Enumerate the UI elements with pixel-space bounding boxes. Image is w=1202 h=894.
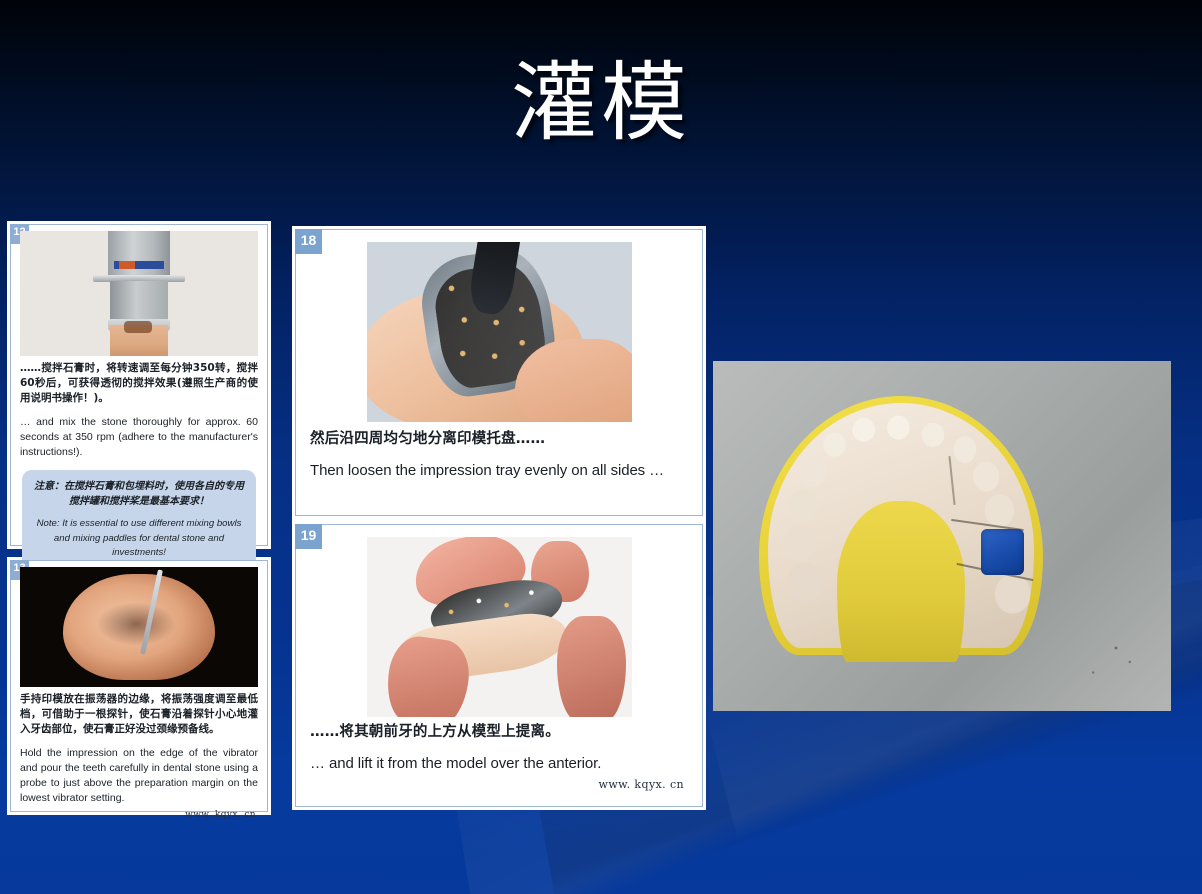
- card-12-caption-zh: ……搅拌石膏时，将转速调至每分钟350转，搅拌60秒后，可获得透彻的搅拌效果(遵…: [20, 361, 258, 406]
- maxillary-stone-model-photo: [713, 361, 1171, 711]
- card-18-photo: [367, 242, 632, 422]
- left-card-column: 12 ……搅拌石膏时，将转速调至每分钟350转，搅拌60秒后，可获得透彻的搅拌效…: [7, 221, 271, 815]
- card-18-caption-en: Then loosen the impression tray evenly o…: [310, 461, 690, 481]
- slide-title: 灌模: [0, 58, 1202, 148]
- card-13: 13 手持印模放在振荡器的边缘，将振荡强度调至最低档，可借助于一根探针，使石膏沿…: [10, 560, 268, 812]
- card-13-caption-en: Hold the impression on the edge of the v…: [20, 746, 258, 807]
- card-19-photo: [367, 537, 632, 717]
- mixer-head-icon: [108, 231, 170, 277]
- card-13-photo: [20, 567, 258, 687]
- card-18-body: 然后沿四周均匀地分离印模托盘…… Then loosen the impress…: [296, 230, 702, 515]
- impression-icon: [63, 574, 215, 680]
- card-19-caption-zh: ……将其朝前牙的上方从模型上提离。: [310, 723, 690, 743]
- middle-column-gap: [295, 516, 703, 524]
- mixing-bowl-icon: [110, 325, 168, 356]
- card-13-caption-zh: 手持印模放在振荡器的边缘，将振荡强度调至最低档，可借助于一根探针，使石膏沿着探针…: [20, 692, 258, 738]
- card-12: 12 ……搅拌石膏时，将转速调至每分钟350转，搅拌60秒后，可获得透彻的搅拌效…: [10, 224, 268, 546]
- card-19-caption-en: … and lift it from the model over the an…: [310, 754, 690, 774]
- card-19-body: ……将其朝前牙的上方从模型上提离。 … and lift it from the…: [296, 525, 702, 806]
- card-12-note-en: Note: It is essential to use different m…: [34, 517, 244, 560]
- middle-card-column: 18 然后沿四周均匀地分离印模托盘…… Then loosen the impr…: [292, 226, 706, 810]
- card-18: 18 然后沿四周均匀地分离印模托盘…… Then loosen the impr…: [295, 229, 703, 516]
- card-18-badge: 18: [295, 229, 322, 254]
- card-13-frame: 13 手持印模放在振荡器的边缘，将振荡强度调至最低档，可借助于一根探针，使石膏沿…: [7, 557, 271, 815]
- card-19-badge: 19: [295, 524, 322, 549]
- card-12-photo: [20, 231, 258, 356]
- card-12-note-box: 注意：在搅拌石膏和包埋料时，使用各自的专用搅拌罐和搅拌桨是最基本要求！ Note…: [22, 470, 256, 571]
- mixer-body-icon: [110, 281, 168, 323]
- card-18-caption-zh: 然后沿四周均匀地分离印模托盘……: [310, 430, 690, 450]
- card-12-caption-en: … and mix the stone thoroughly for appro…: [20, 415, 258, 461]
- card-12-note-zh: 注意：在搅拌石膏和包埋料时，使用各自的专用搅拌罐和搅拌桨是最基本要求！: [34, 479, 244, 509]
- card-12-body: ……搅拌石膏时，将转速调至每分钟350转，搅拌60秒后，可获得透彻的搅拌效果(遵…: [11, 225, 267, 545]
- card-13-body: 手持印模放在振荡器的边缘，将振荡强度调至最低档，可借助于一根探针，使石膏沿着探针…: [11, 561, 267, 811]
- blue-wax-block: [981, 529, 1025, 575]
- card-12-frame: 12 ……搅拌石膏时，将转速调至每分钟350转，搅拌60秒后，可获得透彻的搅拌效…: [7, 221, 271, 549]
- card-13-watermark: www. kqyx. cn: [20, 810, 256, 820]
- card-19: 19 ……将其朝前牙的上方从模型上提离。 … and lift it from …: [295, 524, 703, 807]
- finger-icon-4: [557, 616, 626, 717]
- presentation-slide: 灌模 12 ……搅拌石膏时，将转速调至每分钟350转，搅拌60秒后，可获得透彻的…: [0, 0, 1202, 894]
- card-19-watermark: www. kqyx. cn: [308, 778, 684, 791]
